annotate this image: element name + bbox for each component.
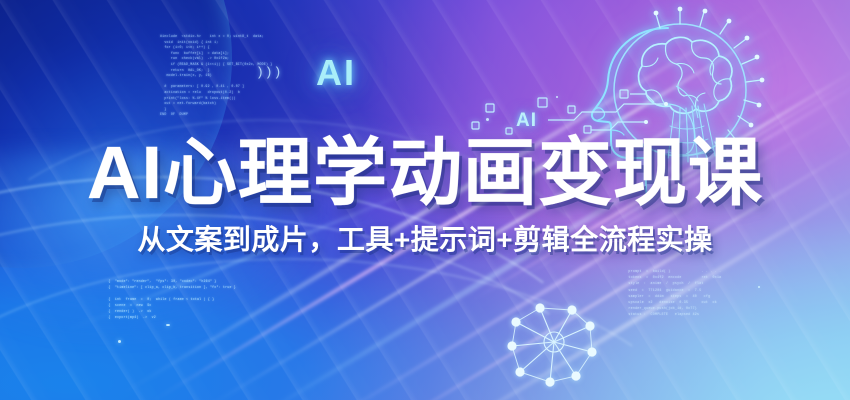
sparkle-dot — [486, 118, 489, 121]
headline-block: AI心理学动画变现课 从文案到成片，工具+提示词+剪辑全流程实操 — [0, 133, 850, 257]
sparkle-dot — [118, 340, 121, 343]
code-braces: ))) — [256, 66, 282, 79]
page-subtitle: 从文案到成片，工具+提示词+剪辑全流程实操 — [0, 223, 850, 257]
network-node-graph-icon — [498, 296, 610, 388]
ai-label-large: AI — [316, 52, 356, 94]
sparkle-dot — [166, 324, 170, 326]
page-title: AI心理学动画变现课 — [0, 133, 850, 213]
ai-label-small: AI — [516, 110, 537, 132]
sparkle-dot — [556, 96, 558, 98]
course-promo-banner: AI AI #include <stdio.h> int x = 0; uint… — [0, 0, 850, 400]
sparkle-dot — [758, 286, 760, 288]
